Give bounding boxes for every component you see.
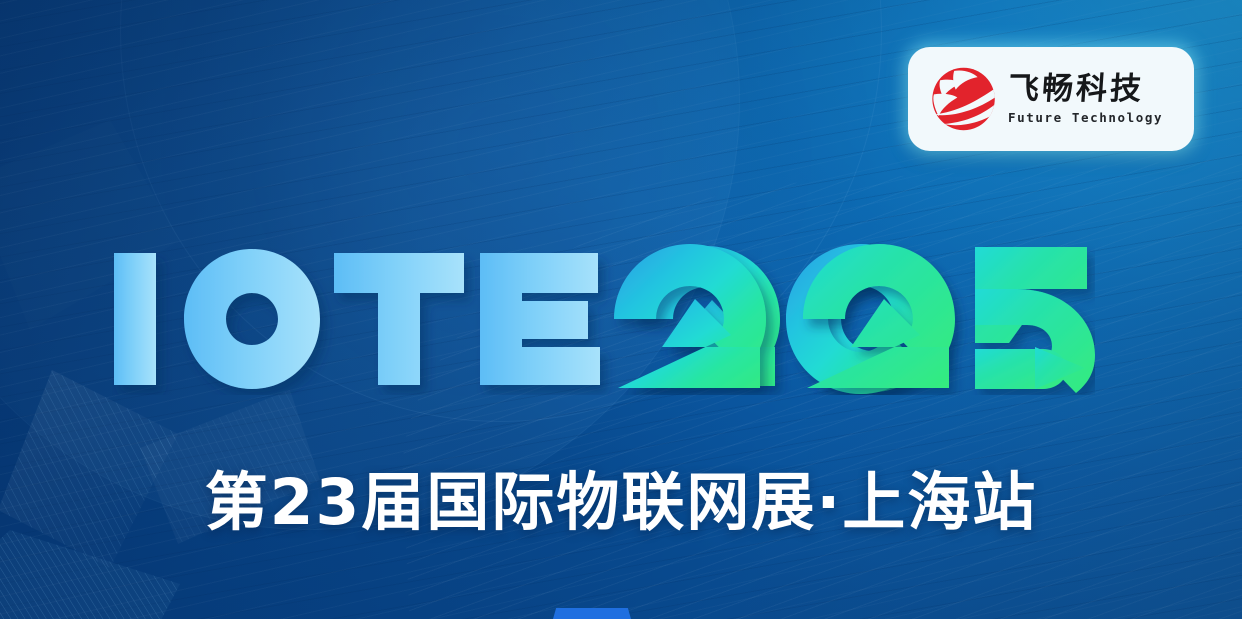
event-subtitle: 第23届国际物联网展·上海站 bbox=[0, 452, 1242, 543]
company-logo-badge[interactable]: 飞畅科技 Future Technology bbox=[908, 47, 1194, 151]
company-logo-text: 飞畅科技 Future Technology bbox=[1008, 74, 1163, 125]
company-name-en: Future Technology bbox=[1008, 112, 1163, 125]
company-name-cn: 飞畅科技 bbox=[1007, 74, 1164, 105]
event-year-25-wordmark bbox=[795, 243, 1095, 395]
feichang-red-circle-mark-icon bbox=[922, 60, 1002, 138]
iote-2025-banner: 飞畅科技 Future Technology bbox=[0, 0, 1242, 619]
bottom-center-trapezoid bbox=[553, 608, 631, 619]
